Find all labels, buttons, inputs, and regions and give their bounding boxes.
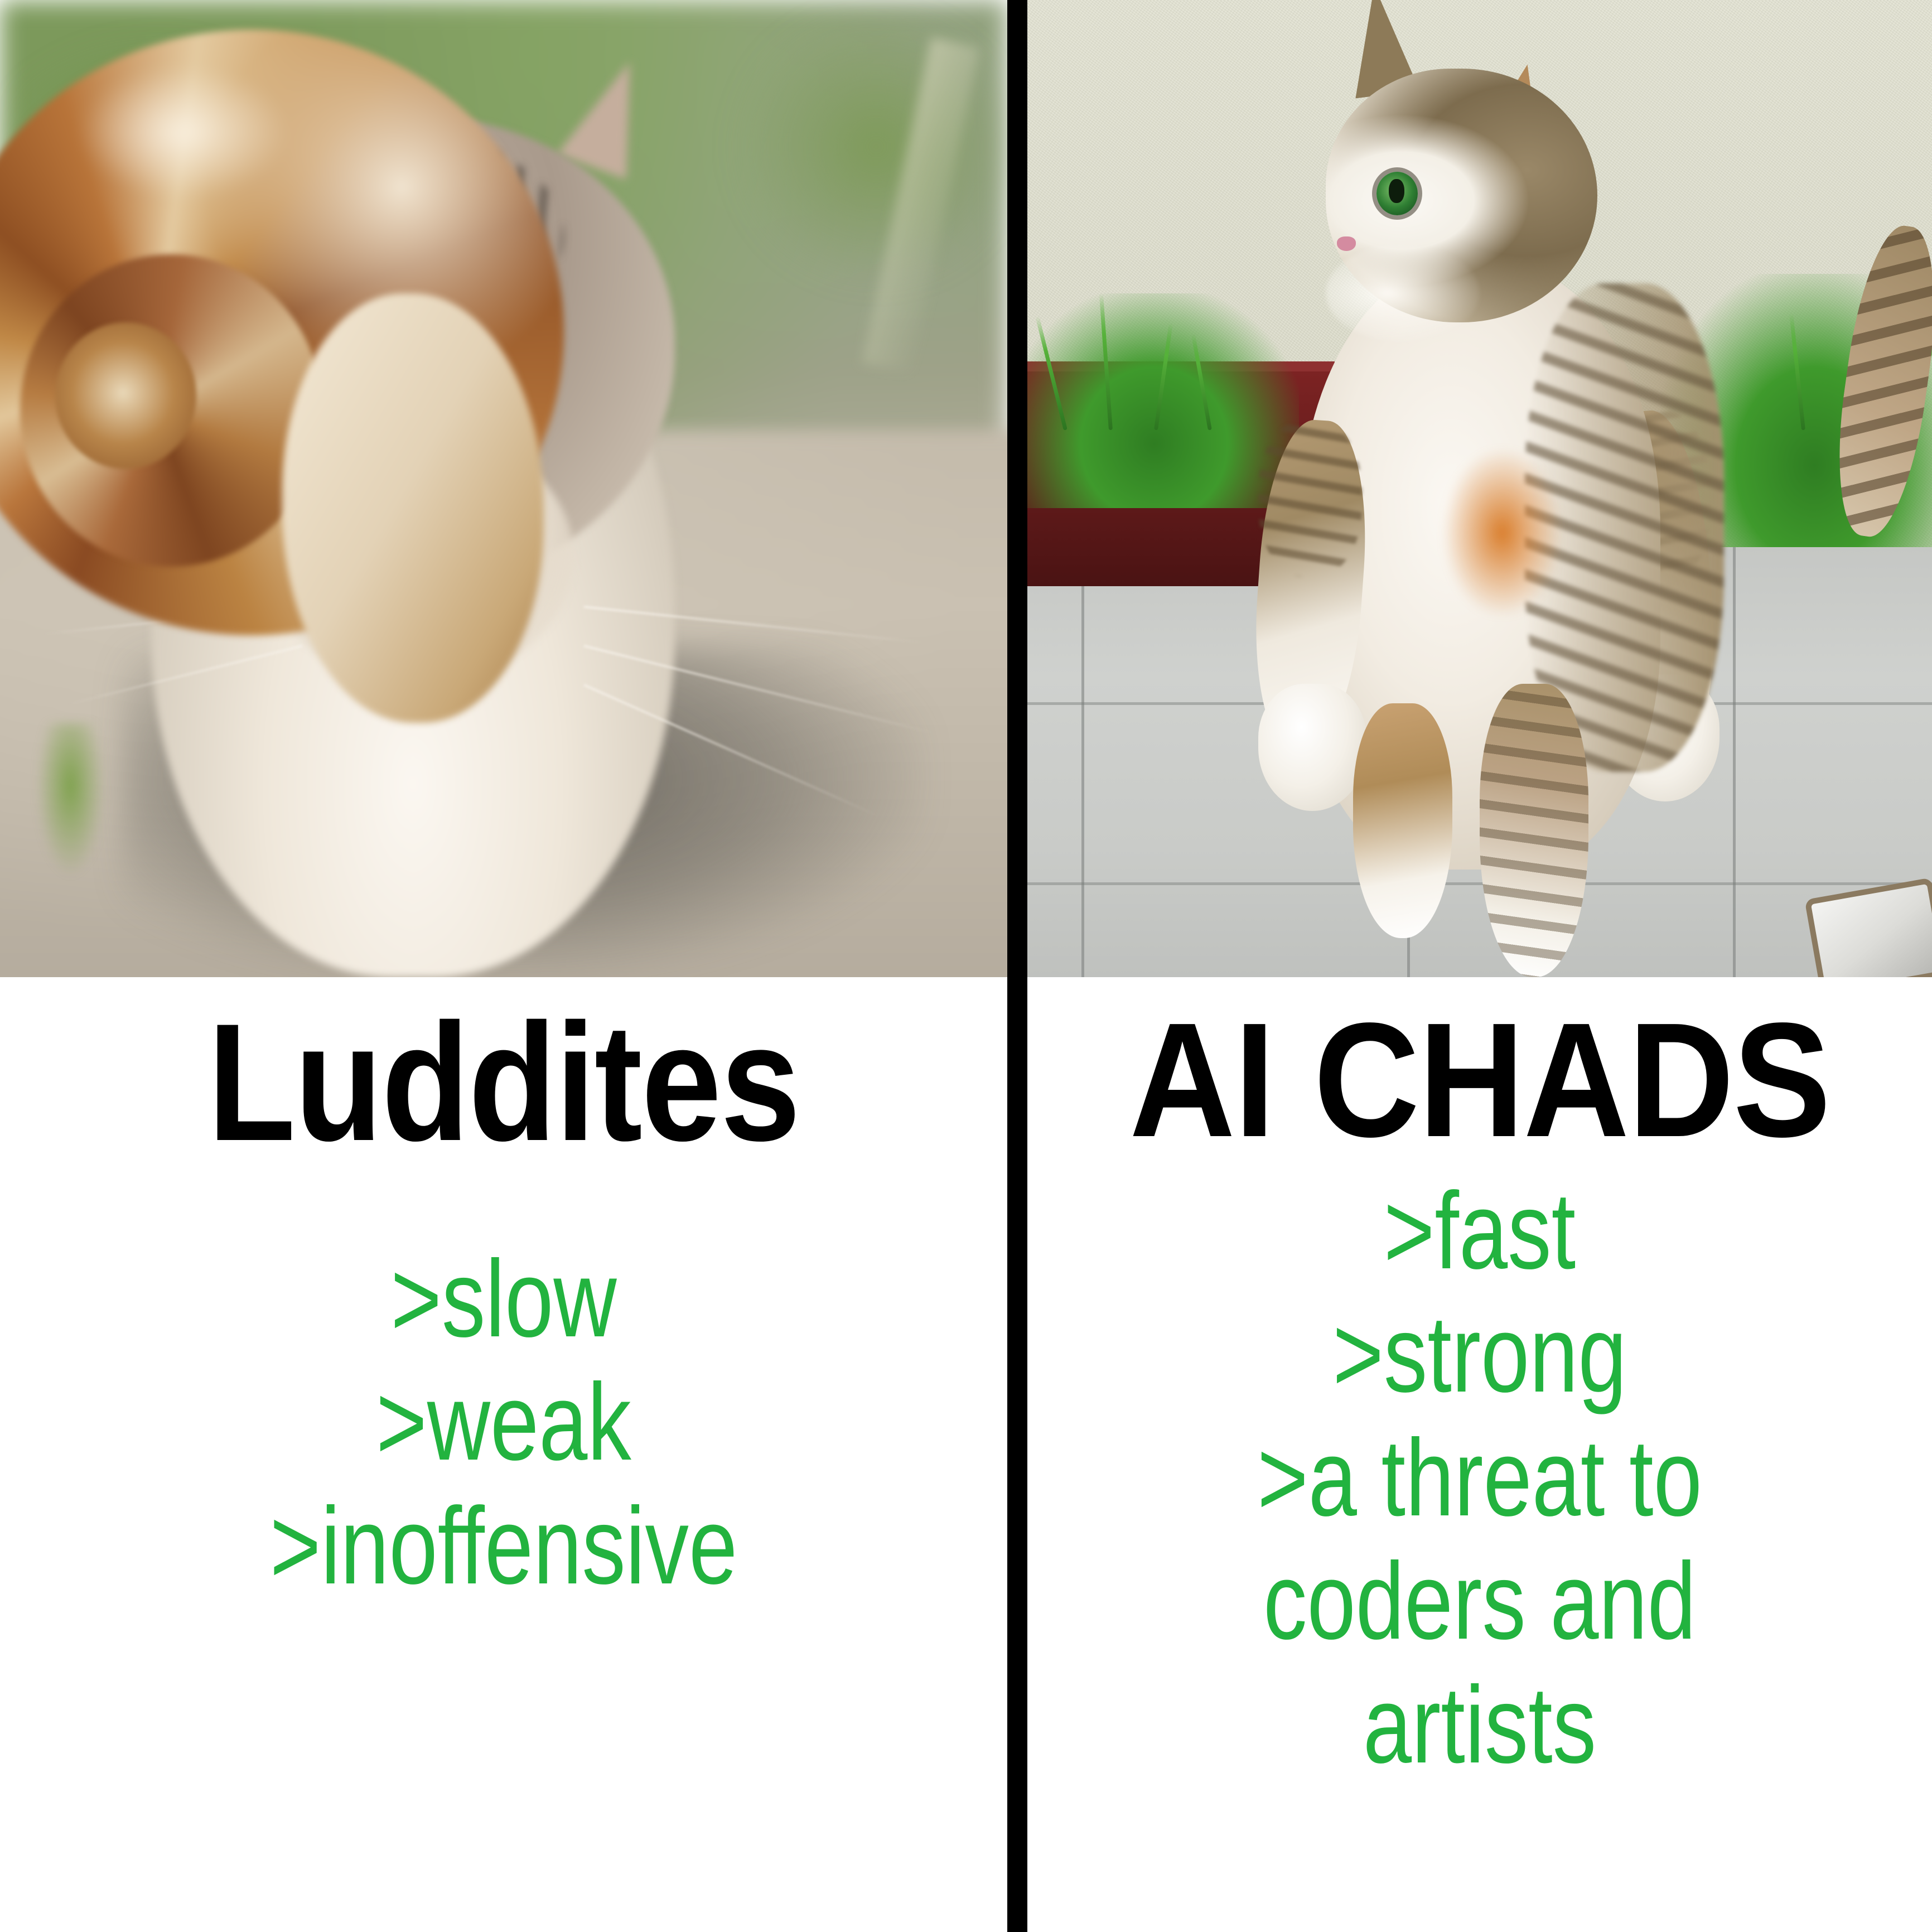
bullet-item: >slow — [101, 1237, 907, 1360]
snail-cat-photo — [0, 0, 1007, 977]
bullet-item: >fast — [1118, 1169, 1842, 1292]
cat-cheek — [1326, 244, 1480, 342]
buff-cat-photo — [1027, 0, 1932, 977]
panel-divider — [1007, 0, 1027, 1932]
cat-leg-left — [1353, 703, 1452, 938]
tile-grout-line — [1081, 547, 1084, 977]
bullet-item: >strong — [1118, 1292, 1842, 1416]
cat-eye — [1376, 172, 1418, 215]
shell-whorl-core — [55, 322, 196, 469]
panel-right: AI CHADS >fast >strong >a threat to code… — [1027, 0, 1932, 1932]
bullet-item: >a threat to — [1118, 1416, 1842, 1539]
tile-grout-line — [1027, 882, 1932, 885]
cat-leg-right — [1480, 684, 1588, 977]
bullet-item: >inoffensive — [101, 1484, 907, 1607]
bullet-item: artists — [1118, 1663, 1842, 1786]
panel-left-bullets: >slow >weak >inoffensive — [101, 1166, 907, 1607]
background-foliage-right — [725, 0, 1007, 293]
cat-pupil — [1389, 179, 1404, 204]
panel-left-title: Luddites — [70, 977, 936, 1166]
right-caption-block: AI CHADS >fast >strong >a threat to code… — [1027, 977, 1932, 1786]
cat-nose — [1337, 236, 1356, 251]
panel-right-bullets: >fast >strong >a threat to coders and ar… — [1118, 1161, 1842, 1786]
bullet-item: coders and — [1118, 1539, 1842, 1663]
plant-left — [1027, 293, 1299, 508]
panel-left: Luddites >slow >weak >inoffensive — [0, 0, 1007, 1932]
left-caption-block: Luddites >slow >weak >inoffensive — [0, 977, 1007, 1607]
cat-arm-left-stripes — [1258, 420, 1363, 576]
small-sprout — [35, 723, 105, 879]
meme-canvas: Luddites >slow >weak >inoffensive — [0, 0, 1932, 1932]
bullet-item: >weak — [101, 1360, 907, 1484]
shell-highlight — [77, 66, 289, 199]
cat-paw-left — [1258, 684, 1367, 811]
tile-grout-line — [1733, 547, 1736, 977]
cat-ginger-patch — [1443, 450, 1561, 616]
panel-right-title: AI CHADS — [1073, 977, 1887, 1161]
shell-aperture — [282, 293, 544, 723]
